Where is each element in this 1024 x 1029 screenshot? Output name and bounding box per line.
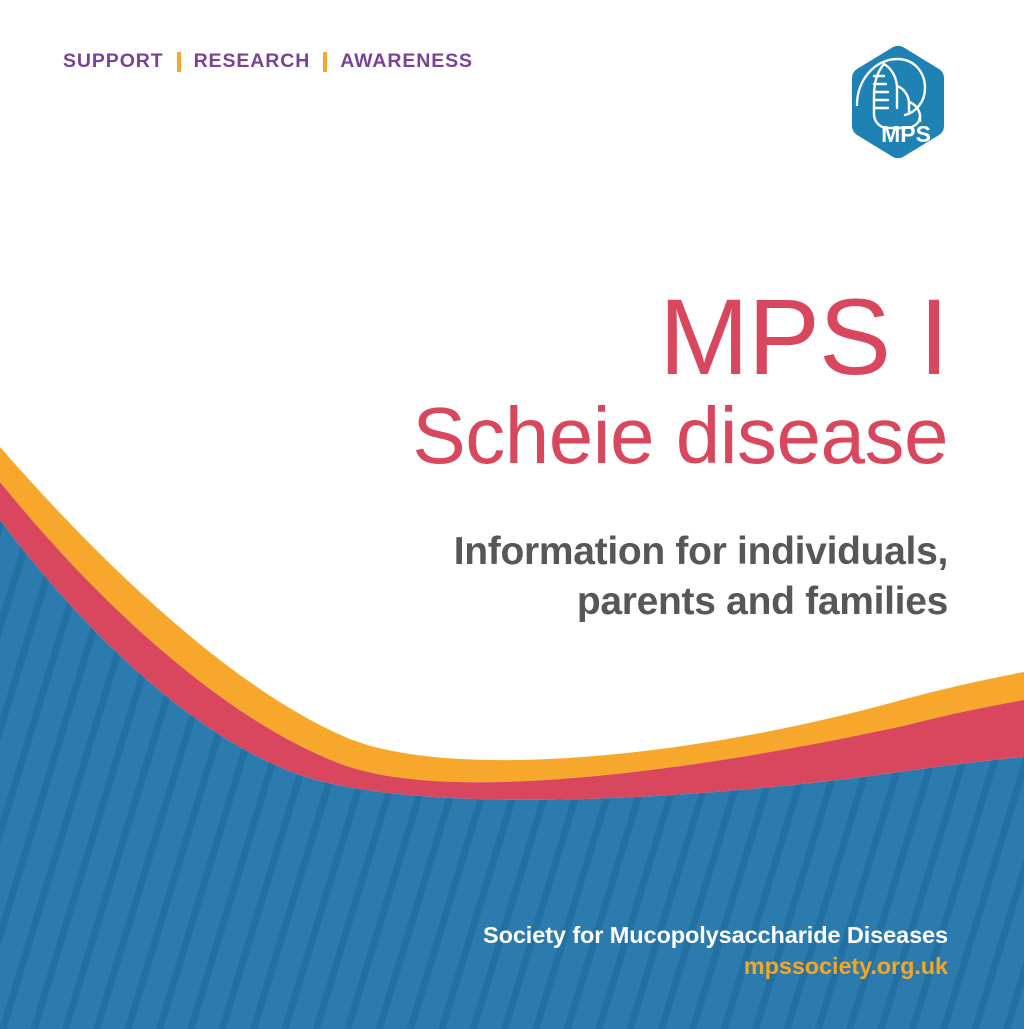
title-sub: Scheie disease <box>248 391 948 481</box>
tagline-separator-icon <box>177 52 181 72</box>
tagline-word-support: SUPPORT <box>63 52 164 72</box>
tagline-word-awareness: AWARENESS <box>340 52 473 72</box>
logo-wordmark: MPS <box>881 121 931 147</box>
page-title: MPS I Scheie disease <box>248 283 948 481</box>
organisation-name: Society for Mucopolysaccharide Diseases <box>248 920 948 952</box>
website-url[interactable]: mpssociety.org.uk <box>248 951 948 983</box>
page-subtitle: Information for individuals, parents and… <box>248 527 948 627</box>
title-main: MPS I <box>248 283 948 391</box>
brand-tagline: SUPPORT RESEARCH AWARENESS <box>63 52 473 72</box>
subtitle-line-1: Information for individuals, <box>248 527 948 577</box>
mps-society-logo[interactable]: MPS <box>843 42 953 167</box>
footer: Society for Mucopolysaccharide Diseases … <box>248 920 948 983</box>
tagline-separator-icon <box>323 52 327 72</box>
tagline-word-research: RESEARCH <box>194 52 311 72</box>
subtitle-line-2: parents and families <box>248 577 948 627</box>
cover-page: SUPPORT RESEARCH AWARENESS MPS MPS I Sch… <box>0 0 1024 1029</box>
